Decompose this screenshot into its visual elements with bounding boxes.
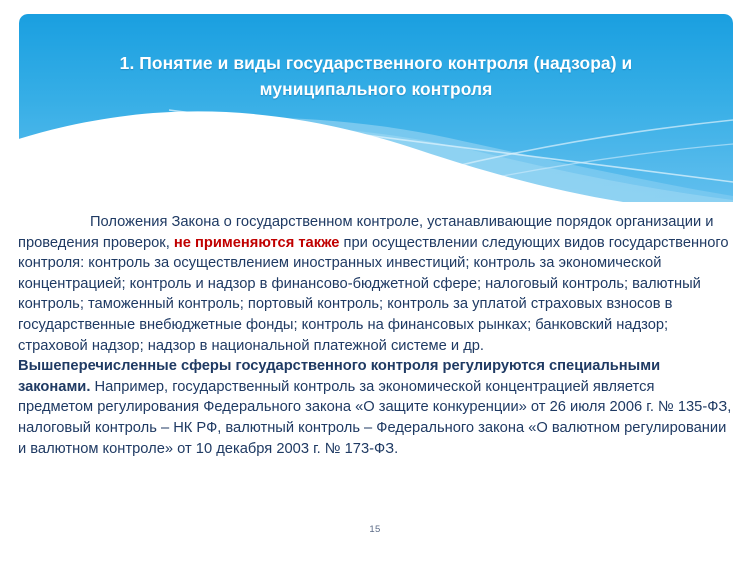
slide-body: Положения Закона о государственном контр… [18,212,732,459]
body-paragraph-1: Положения Закона о государственном контр… [18,212,732,356]
paragraph-1-emphasis-red: не применяются также [174,235,340,251]
paragraph-2-segment-2: Например, государственный контроль за эк… [18,379,731,457]
slide-canvas: 1. Понятие и виды государственного контр… [0,0,750,561]
banner-background-graphic [19,14,733,202]
paragraph-1-segment-3: при осуществлении следующих видов госуда… [18,235,729,354]
body-paragraph-2: Вышеперечисленные сферы государственного… [18,356,732,459]
header-banner: 1. Понятие и виды государственного контр… [19,14,733,202]
page-number: 15 [0,524,750,535]
